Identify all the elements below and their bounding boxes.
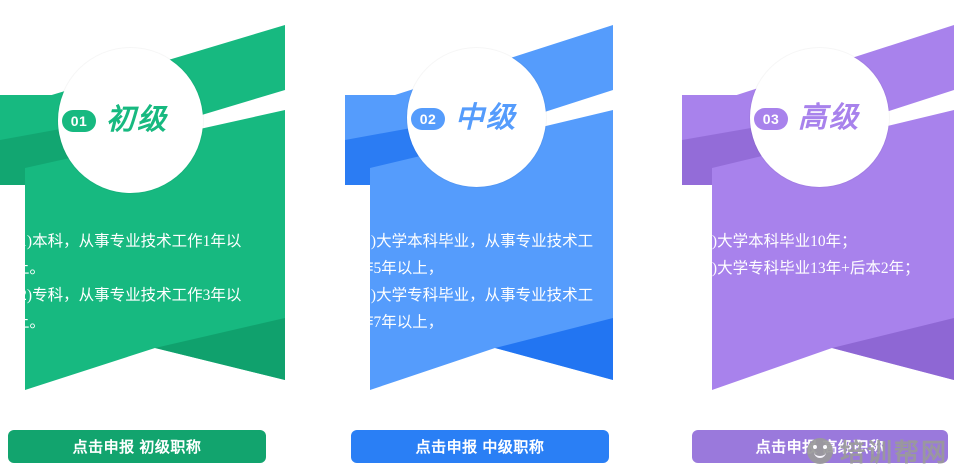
requirements-junior: (1)本科，从事专业技术工作1年以上。 (2)专科，从事专业技术工作3年以上。 — [14, 228, 266, 336]
requirements-intermediate: (1)大学本科毕业，从事专业技术工作5年以上， (2)大学专科毕业，从事专业技术… — [358, 228, 598, 336]
title-levels-board: 01 初级 (1)本科，从事专业技术工作1年以上。 (2)专科，从事专业技术工作… — [0, 0, 954, 473]
requirement-line: (2)专科，从事专业技术工作3年以上。 — [14, 282, 266, 336]
level-title-intermediate: 02 中级 — [411, 104, 517, 133]
watermark: 培训帮网 — [807, 433, 948, 469]
requirement-line: (2)大学专科毕业13年+后本2年； — [699, 255, 943, 282]
level-title-senior: 03 高级 — [754, 104, 860, 133]
level-number-badge: 03 — [754, 108, 788, 130]
apply-button-junior[interactable]: 点击申报 初级职称 — [8, 430, 266, 463]
level-number-badge: 01 — [62, 110, 96, 132]
level-card-junior: 01 初级 (1)本科，从事专业技术工作1年以上。 (2)专科，从事专业技术工作… — [0, 0, 285, 473]
level-number-badge: 02 — [411, 108, 445, 130]
requirement-line: (1)本科，从事专业技术工作1年以上。 — [14, 228, 266, 282]
apply-button-intermediate[interactable]: 点击申报 中级职称 — [351, 430, 609, 463]
smiley-face-icon — [807, 438, 833, 464]
smiley-mouth-icon — [814, 452, 826, 458]
requirement-line: (1)大学本科毕业，从事专业技术工作5年以上， — [358, 228, 598, 282]
level-card-intermediate: 02 中级 (1)大学本科毕业，从事专业技术工作5年以上， (2)大学专科毕业，… — [345, 0, 613, 473]
requirement-line: (2)大学专科毕业，从事专业技术工作7年以上， — [358, 282, 598, 336]
level-name-label: 高级 — [798, 104, 860, 133]
requirements-senior: (1)大学本科毕业10年； (2)大学专科毕业13年+后本2年； — [699, 228, 943, 282]
level-name-label: 初级 — [106, 106, 168, 135]
watermark-label: 培训帮网 — [840, 433, 948, 469]
level-card-senior: 03 高级 (1)大学本科毕业10年； (2)大学专科毕业13年+后本2年； 点… — [682, 0, 954, 473]
requirement-line: (1)大学本科毕业10年； — [699, 228, 943, 255]
level-name-label: 中级 — [455, 104, 517, 133]
level-title-junior: 01 初级 — [62, 106, 168, 135]
